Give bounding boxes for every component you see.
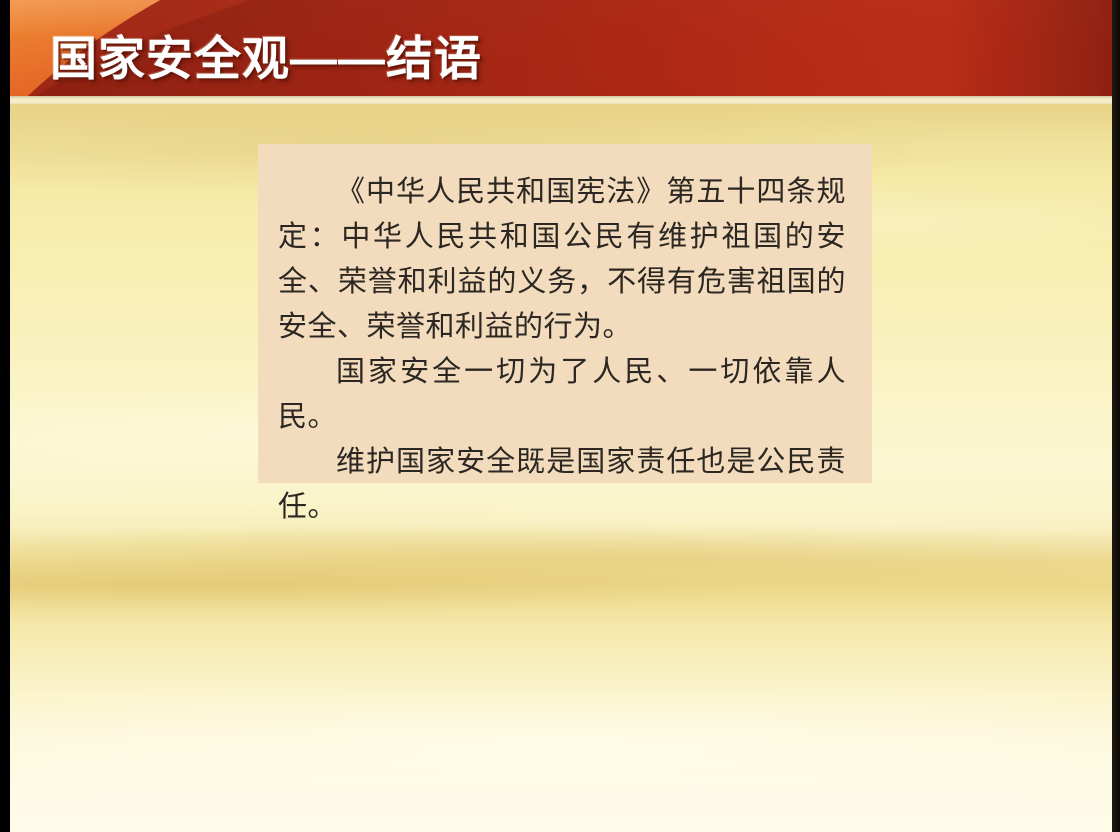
frame-right-border <box>1112 0 1120 832</box>
frame-left-border <box>0 0 10 832</box>
presentation-slide: 国家安全观——结语 《中华人民共和国宪法》第五十四条规定：中华人民共和国公民有维… <box>0 0 1120 832</box>
content-paragraph-2: 国家安全一切为了人民、一切依靠人民。 <box>278 350 846 440</box>
title-bar-vignette <box>942 0 1112 96</box>
slide-title-bar: 国家安全观——结语 <box>10 0 1112 96</box>
content-text-panel: 《中华人民共和国宪法》第五十四条规定：中华人民共和国公民有维护祖国的安全、荣誉和… <box>258 144 872 483</box>
content-paragraph-3: 维护国家安全既是国家责任也是公民责任。 <box>278 440 846 530</box>
header-divider <box>10 96 1112 104</box>
slide-canvas: 国家安全观——结语 《中华人民共和国宪法》第五十四条规定：中华人民共和国公民有维… <box>10 0 1112 832</box>
content-paragraph-1: 《中华人民共和国宪法》第五十四条规定：中华人民共和国公民有维护祖国的安全、荣誉和… <box>278 170 846 350</box>
slide-title: 国家安全观——结语 <box>50 20 482 89</box>
